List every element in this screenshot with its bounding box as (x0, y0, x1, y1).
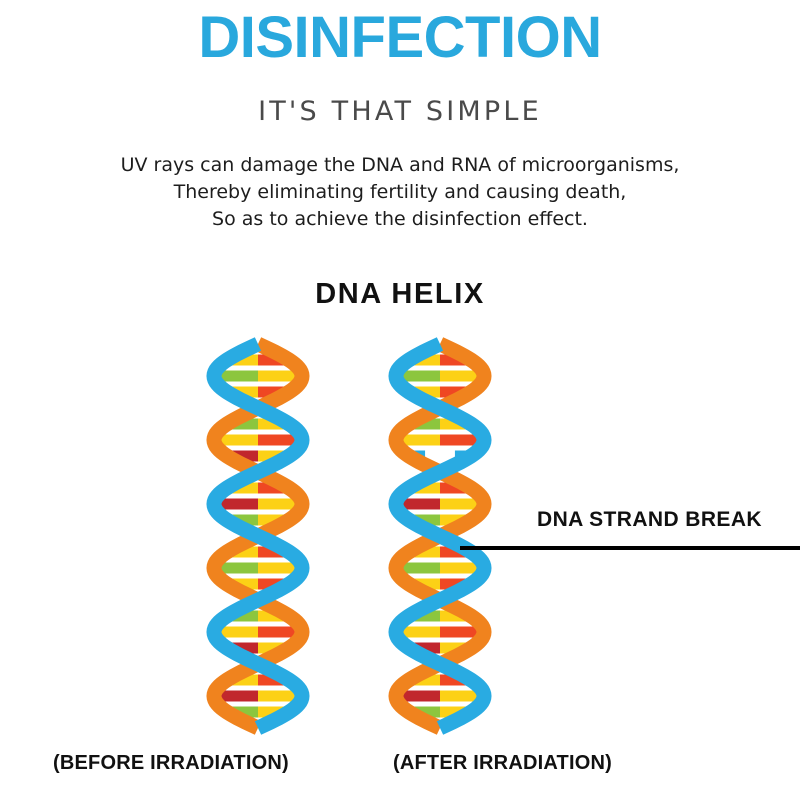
helix-illustration-area (0, 336, 800, 736)
description-line-1: UV rays can damage the DNA and RNA of mi… (0, 152, 800, 179)
dna-helix-heading: DNA HELIX (0, 278, 800, 311)
description-line-2: Thereby eliminating fertility and causin… (0, 179, 800, 206)
dna-helix-intact-icon (178, 336, 338, 736)
before-irradiation-helix (178, 336, 338, 736)
page-title: DISINFECTION (0, 8, 800, 69)
dna-helix-broken-icon (360, 336, 520, 736)
caption-before-irradiation: (BEFORE IRRADIATION) (53, 752, 289, 775)
after-irradiation-helix (360, 336, 520, 736)
description-paragraph: UV rays can damage the DNA and RNA of mi… (0, 152, 800, 233)
caption-after-irradiation: (AFTER IRRADIATION) (393, 752, 612, 775)
description-line-3: So as to achieve the disinfection effect… (0, 206, 800, 233)
strand-break-label: DNA STRAND BREAK (537, 508, 762, 532)
poster-canvas: DISINFECTION IT'S THAT SIMPLE UV rays ca… (0, 0, 800, 800)
page-subtitle: IT'S THAT SIMPLE (0, 96, 800, 127)
strand-break-pointer-line (460, 546, 800, 550)
